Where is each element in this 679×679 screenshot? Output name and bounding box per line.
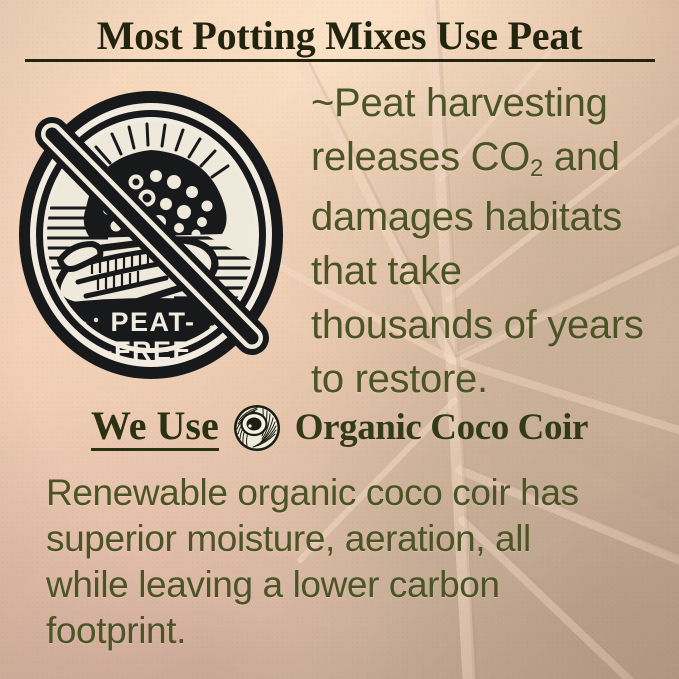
peat-harm-line-2: releases CO2 and xyxy=(311,130,673,190)
coco-line-4: footprint. xyxy=(46,608,646,654)
peat-free-line2: -FREE- xyxy=(104,336,203,366)
peat-harm-line-4: that take xyxy=(311,244,673,298)
peat-free-line1: PEAT- xyxy=(110,307,195,337)
peat-harm-line-2-pre: releases CO xyxy=(311,135,530,179)
peat-free-infographic: Most Potting Mixes Use Peat xyxy=(0,0,679,679)
we-use-row: We Use xyxy=(0,404,679,452)
page-title-underline xyxy=(25,59,655,62)
co2-subscript: 2 xyxy=(530,155,543,182)
coconut-icon xyxy=(233,404,281,452)
peat-free-icon: PEAT- -FREE- xyxy=(16,88,286,382)
peat-harm-line-1: ~Peat harvesting xyxy=(311,76,673,130)
coco-line-3: while leaving a lower carbon xyxy=(46,562,646,608)
coco-coir-paragraph: Renewable organic coco coir has superior… xyxy=(46,470,646,654)
peat-harm-line-2-post: and xyxy=(543,135,620,179)
coco-line-2: superior moisture, aeration, all xyxy=(46,516,646,562)
peat-harm-line-3: damages habitats xyxy=(311,190,673,244)
coco-coir-label: Organic Coco Coir xyxy=(295,408,588,448)
peat-harm-line-6: to restore. xyxy=(311,352,673,406)
peat-free-badge: PEAT- -FREE- xyxy=(16,88,286,382)
peat-harm-line-5: thousands of years xyxy=(311,298,673,352)
we-use-label: We Use xyxy=(91,406,219,451)
coco-line-1: Renewable organic coco coir has xyxy=(46,470,646,516)
page-title: Most Potting Mixes Use Peat xyxy=(0,12,679,59)
peat-harm-paragraph: ~Peat harvesting releases CO2 and damage… xyxy=(311,76,673,406)
